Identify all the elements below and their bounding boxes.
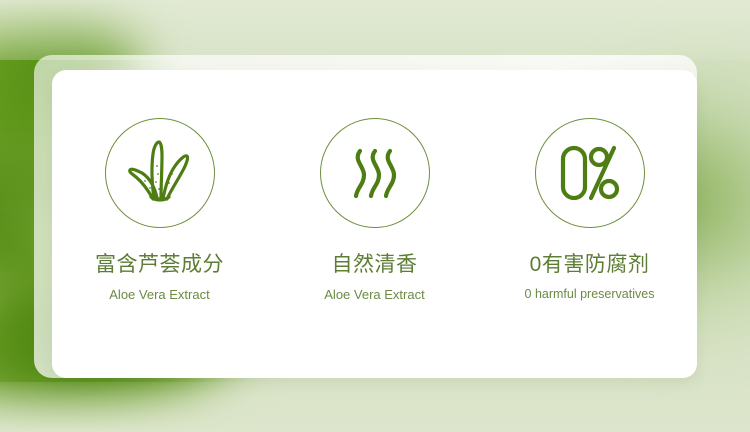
feature-title: 0有害防腐剂 (530, 254, 650, 275)
feature-subtitle: Aloe Vera Extract (324, 288, 424, 301)
zero-percent-icon (535, 118, 645, 228)
feature-list: 富含芦荟成分 Aloe Vera Extract 自然清香 Aloe Vera … (52, 70, 697, 378)
feature-item-aloe-extract: 富含芦荟成分 Aloe Vera Extract (52, 118, 267, 301)
feature-item-natural-fragrance: 自然清香 Aloe Vera Extract (267, 118, 482, 301)
background-wash-bottom (0, 382, 750, 432)
feature-card: 富含芦荟成分 Aloe Vera Extract 自然清香 Aloe Vera … (52, 70, 697, 378)
product-feature-banner: 富含芦荟成分 Aloe Vera Extract 自然清香 Aloe Vera … (0, 0, 750, 432)
background-wash-top (0, 0, 750, 60)
feature-subtitle: Aloe Vera Extract (109, 288, 209, 301)
feature-subtitle: 0 harmful preservatives (525, 288, 655, 301)
feature-title: 富含芦荟成分 (95, 254, 224, 275)
feature-item-zero-preservatives: 0有害防腐剂 0 harmful preservatives (482, 118, 697, 301)
aroma-waves-icon (320, 118, 430, 228)
feature-title: 自然清香 (332, 254, 418, 275)
aloe-plant-icon (105, 118, 215, 228)
